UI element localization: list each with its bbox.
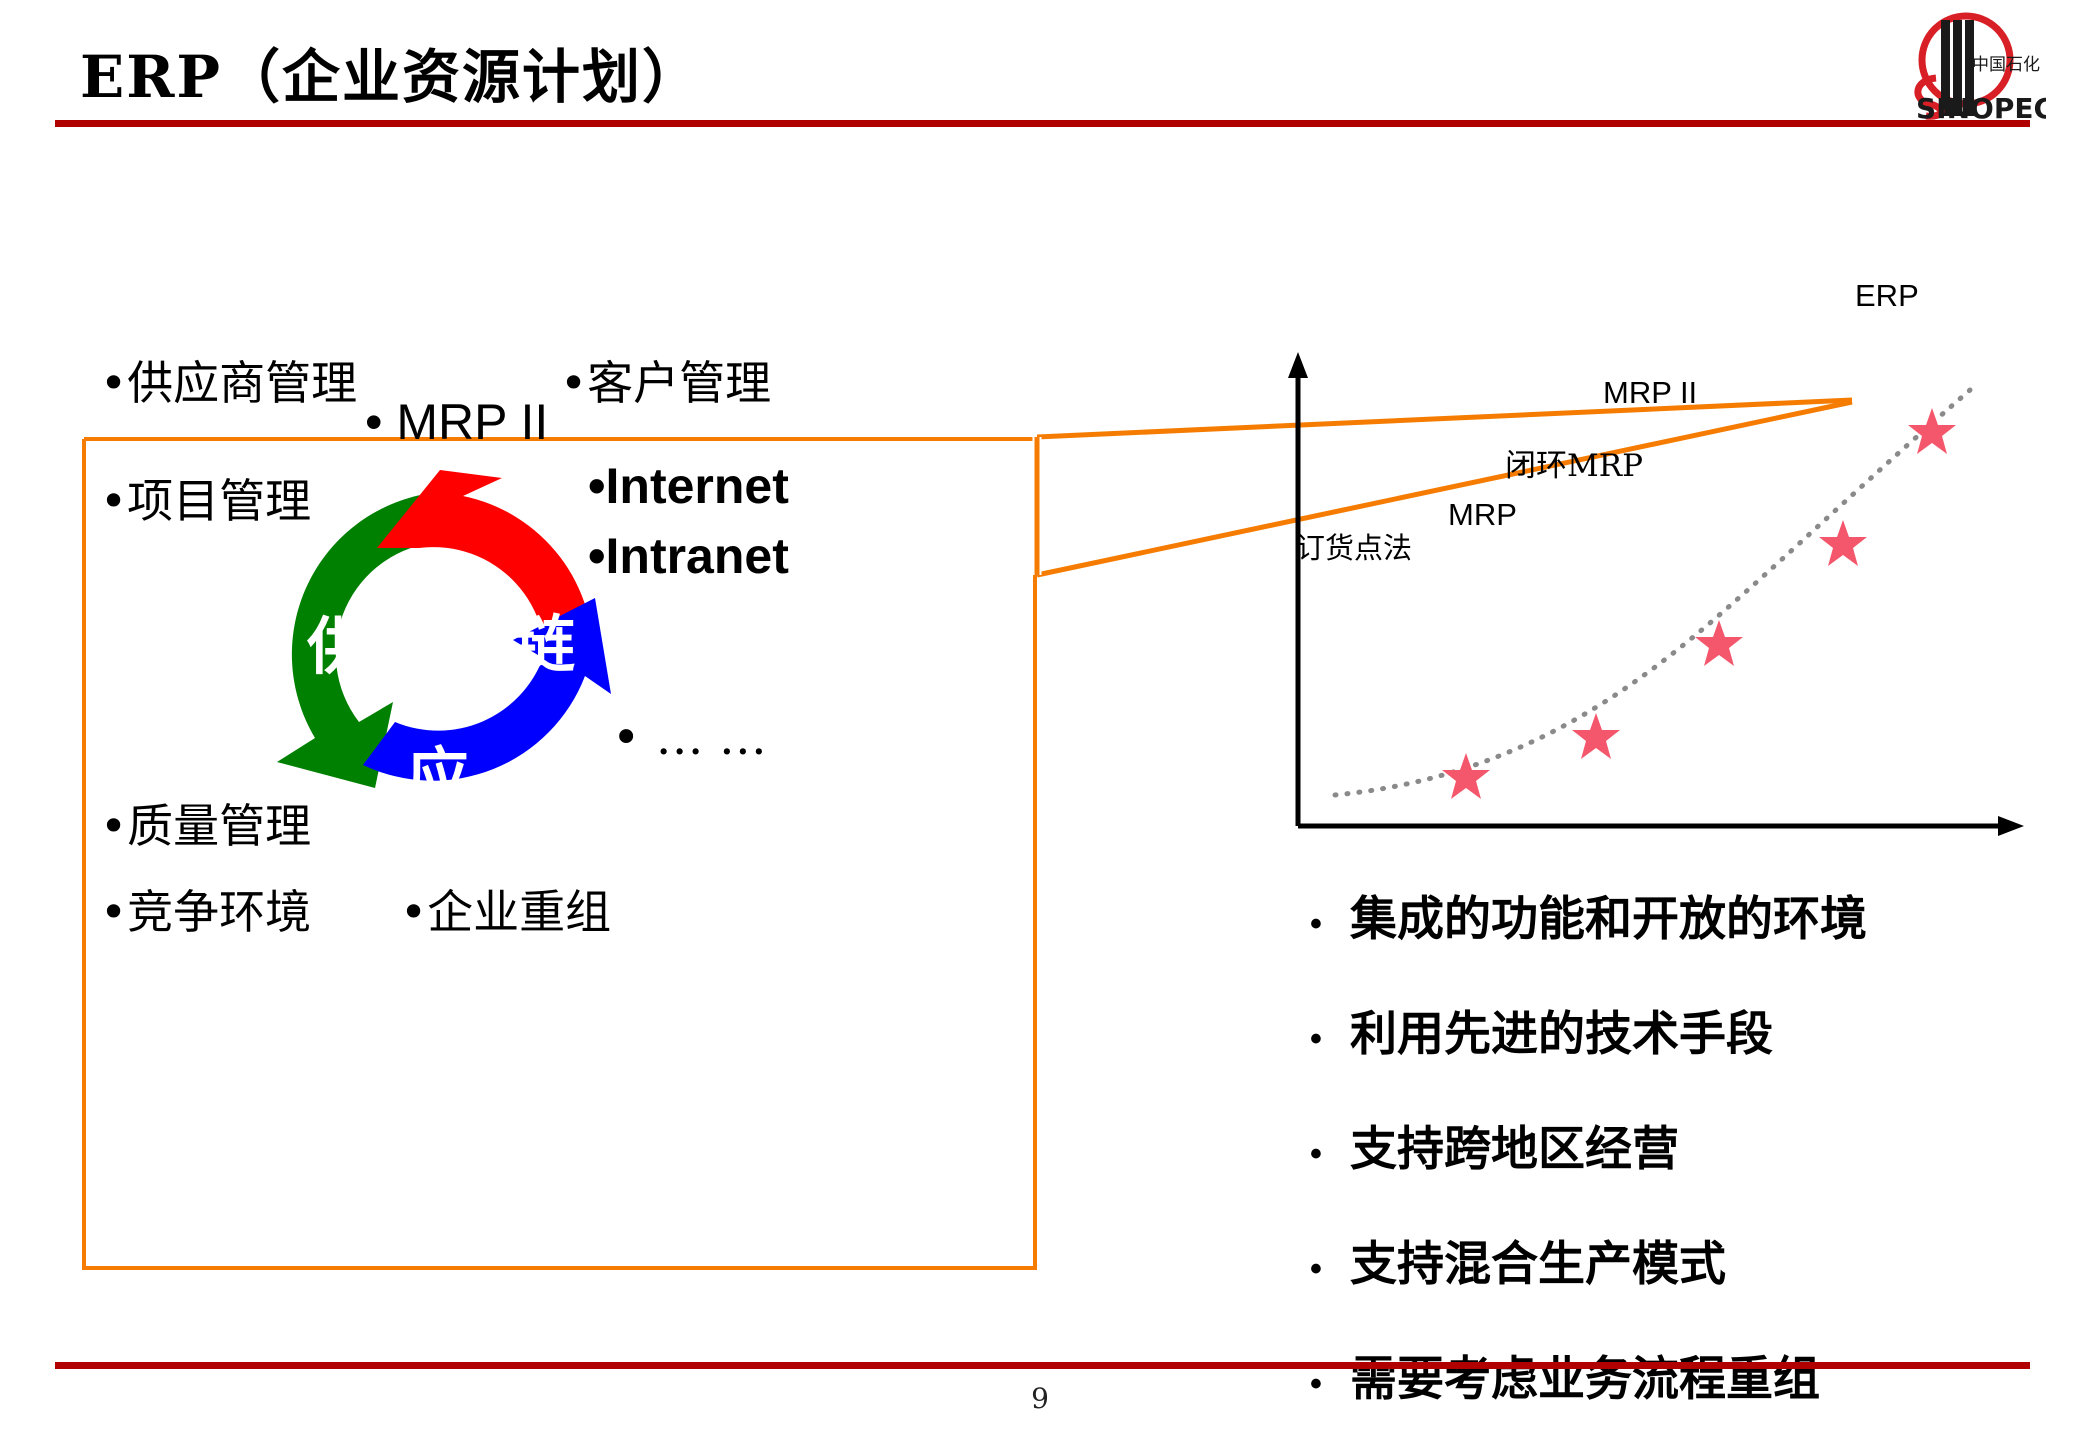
page-title: ERP（企业资源计划） xyxy=(80,30,702,114)
chart-marker-3 xyxy=(1819,520,1867,566)
logo-wordmark: SINOPEC xyxy=(1916,92,2046,123)
chart-growth-curve xyxy=(1335,390,1970,795)
title-divider xyxy=(55,120,2030,127)
chart-marker-1 xyxy=(1572,713,1620,759)
chart-label-closed-loop-mrp: 闭环MRP xyxy=(1505,440,1643,485)
benefit-label: 利用先进的技术手段 xyxy=(1350,995,1773,1064)
bullet-icon: • xyxy=(1310,1020,1350,1059)
chart-marker-4 xyxy=(1908,408,1956,454)
bullet-icon: • xyxy=(1310,1135,1350,1174)
bullet-icon: • xyxy=(1310,1250,1350,1289)
cycle-label-chain: 链 xyxy=(513,608,575,681)
benefit-item: • 支持混合生产模式 xyxy=(1310,1225,2040,1294)
cycle-label-response: 应 xyxy=(407,740,469,813)
benefit-label: 支持跨地区经营 xyxy=(1350,1110,1679,1179)
chart-label-mrp: MRP xyxy=(1448,497,1517,533)
benefit-item: • 支持跨地区经营 xyxy=(1310,1110,2040,1179)
chart-label-erp: ERP xyxy=(1855,278,1919,314)
page-number: 9 xyxy=(0,1382,2080,1415)
feature-restructuring: •企业重组 xyxy=(400,876,611,942)
benefit-item: • 集成的功能和开放的环境 xyxy=(1310,880,2040,949)
bullet-icon: • xyxy=(1310,905,1350,944)
feature-customer-management: •客户管理 xyxy=(560,347,771,413)
benefit-item: • 利用先进的技术手段 xyxy=(1310,995,2040,1064)
sinopec-logo-svg: SINOPEC 中国石化 xyxy=(1886,8,2046,123)
cycle-label-supply: 供 xyxy=(307,610,369,683)
feature-etc: • … … xyxy=(612,710,767,766)
feature-supplier-management: •供应商管理 xyxy=(100,347,357,413)
supply-chain-cycle: 供 链 应 xyxy=(255,470,625,830)
logo-chinese-mark: 中国石化 xyxy=(1972,55,2040,75)
chart-x-axis-arrow xyxy=(1998,816,2024,836)
chart-y-axis-arrow xyxy=(1288,352,1308,378)
chart-label-order-point: 订货点法 xyxy=(1296,525,1412,567)
footer-divider xyxy=(55,1362,2030,1369)
chart-marker-0 xyxy=(1442,753,1490,799)
chart-label-mrp2: MRP II xyxy=(1603,375,1697,411)
chart-marker-2 xyxy=(1695,620,1743,666)
sinopec-logo: SINOPEC 中国石化 xyxy=(1886,8,2046,123)
feature-mrp2: • MRP II xyxy=(365,393,548,451)
benefit-label: 支持混合生产模式 xyxy=(1350,1225,1726,1294)
feature-competition: •竞争环境 xyxy=(100,876,311,942)
benefit-label: 集成的功能和开放的环境 xyxy=(1350,880,1867,949)
